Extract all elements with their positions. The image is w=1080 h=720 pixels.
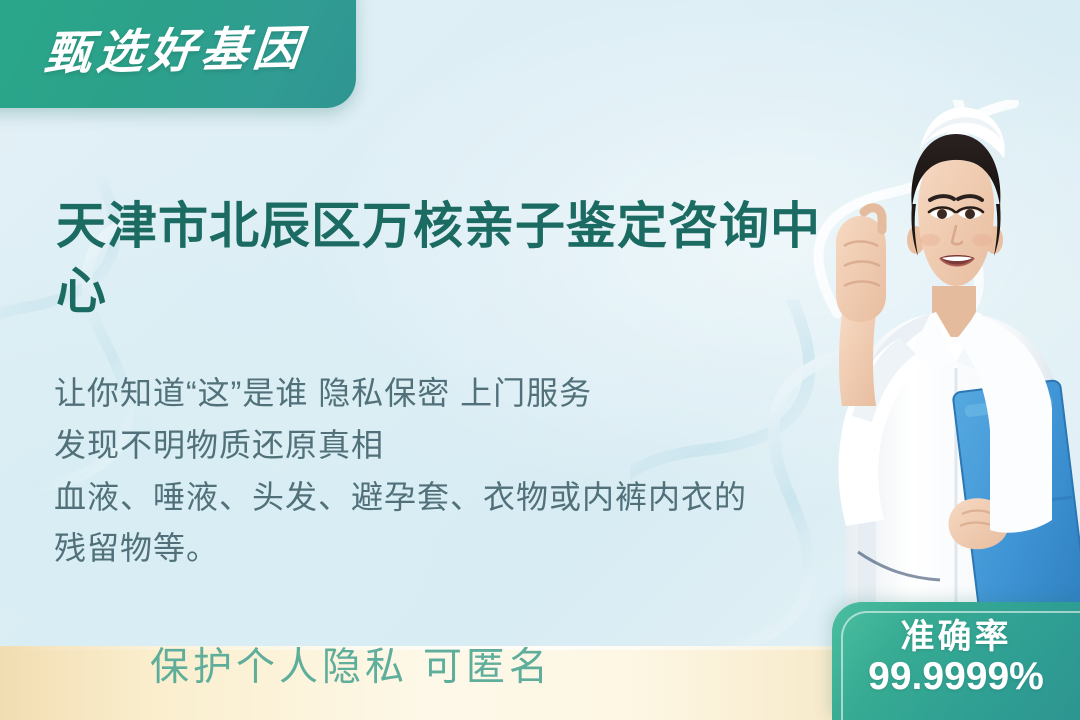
accuracy-label: 准确率: [832, 619, 1080, 655]
description-line-3: 血液、唾液、头发、避孕套、衣物或内裤内衣的残留物等。: [54, 472, 754, 576]
description-block: 让你知道“这”是谁 隐私保密 上门服务 发现不明物质还原真相 血液、唾液、头发、…: [54, 368, 754, 575]
promo-banner: 甄选好基因: [0, 0, 1080, 720]
accuracy-badge-inner: 准确率 99.9999%: [832, 602, 1080, 699]
brand-logo-badge[interactable]: 甄选好基因: [0, 0, 356, 108]
accuracy-badge: 准确率 99.9999%: [832, 602, 1080, 720]
footer-tagline: 保护个人隐私 可匿名: [150, 648, 552, 687]
brand-logo-text: 甄选好基因: [42, 25, 307, 77]
page-title: 天津市北辰区万核亲子鉴定咨询中心: [56, 194, 866, 324]
description-line-2: 发现不明物质还原真相: [54, 420, 754, 472]
accuracy-value: 99.9999%: [832, 655, 1080, 699]
description-line-1: 让你知道“这”是谁 隐私保密 上门服务: [54, 368, 754, 420]
